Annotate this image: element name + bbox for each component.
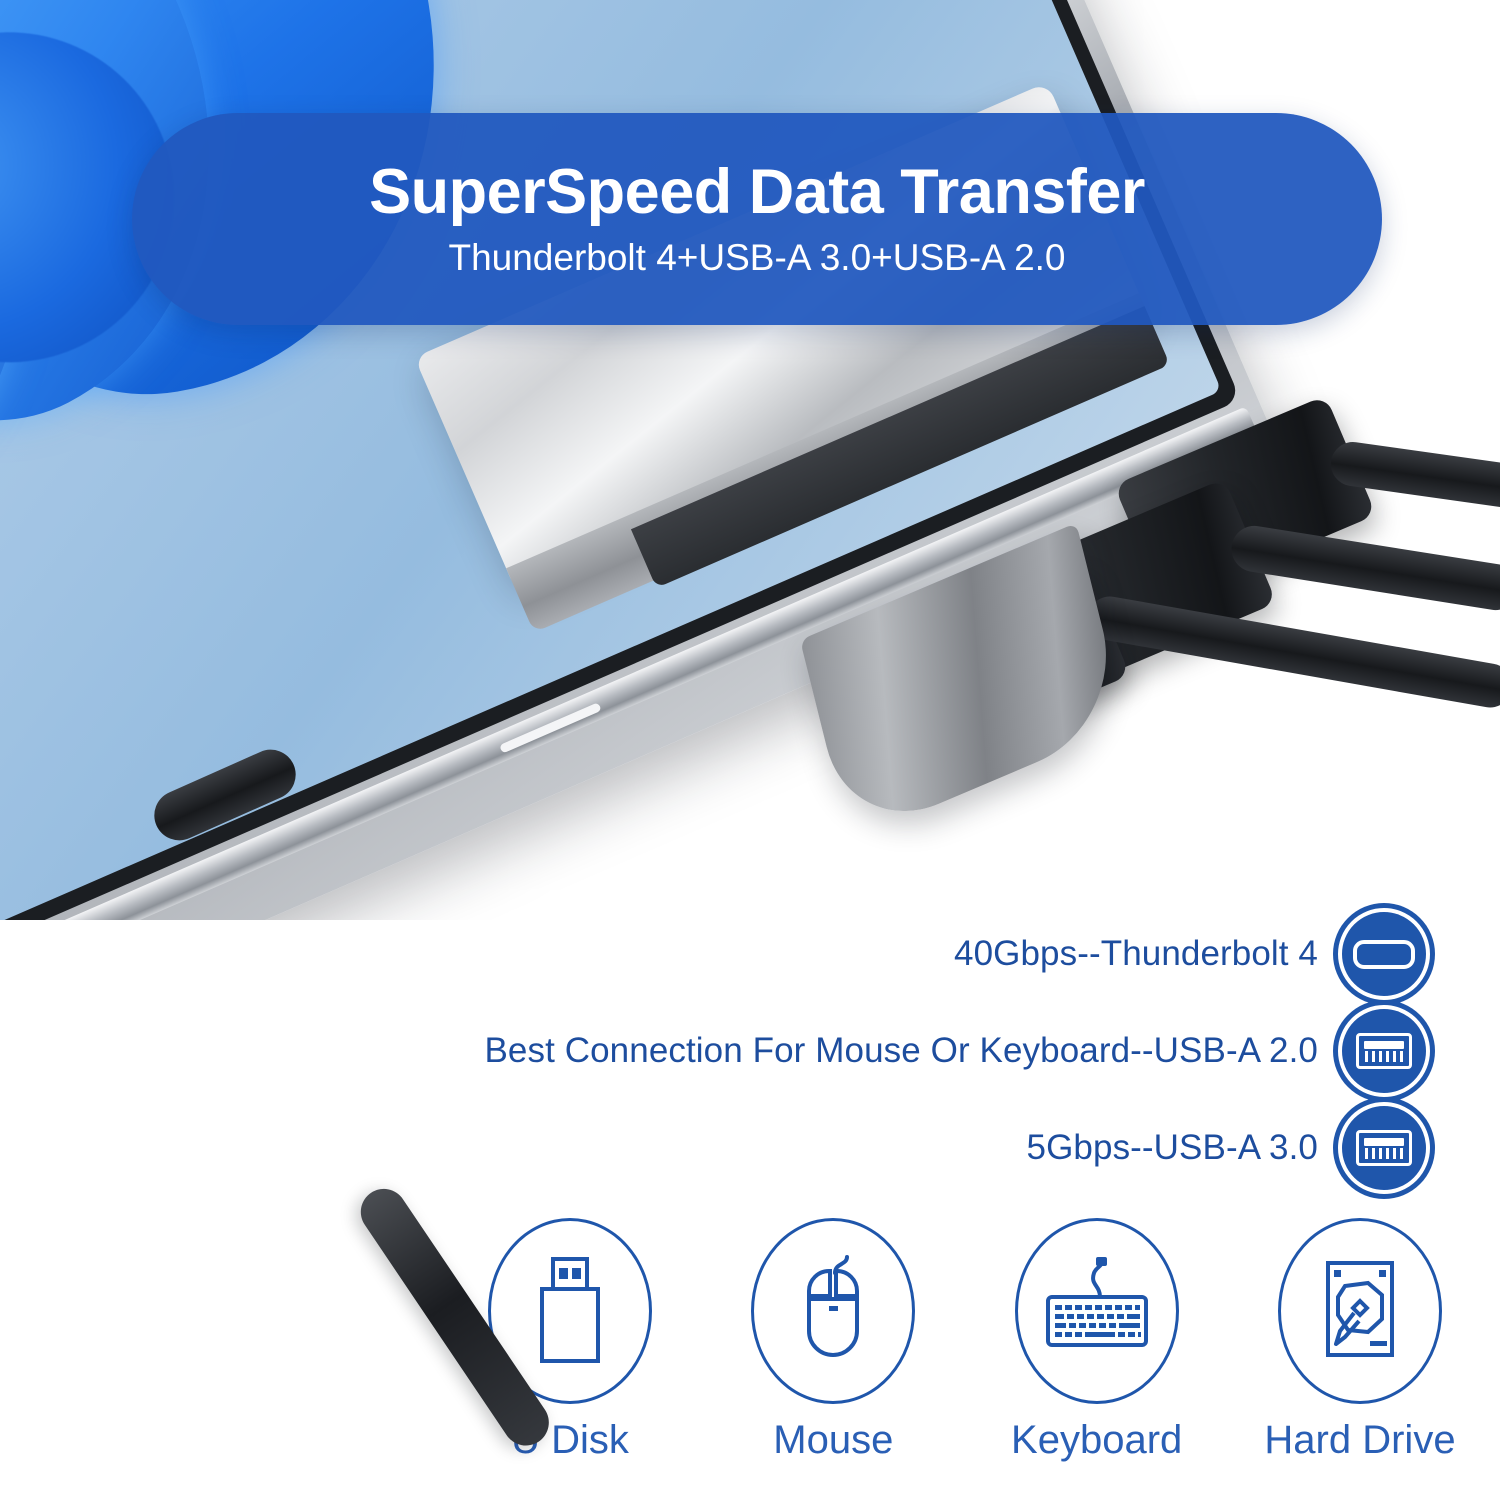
spec-label-usba20: Best Connection For Mouse Or Keyboard--U… <box>484 1031 1318 1071</box>
device-label-hard-drive: Hard Drive <box>1264 1418 1455 1463</box>
hard-drive-circle <box>1278 1218 1442 1404</box>
keyboard-icon <box>1038 1251 1156 1371</box>
device-label-keyboard: Keyboard <box>1011 1418 1182 1463</box>
usb-a-glyph <box>1356 1033 1412 1069</box>
mouse-circle <box>751 1218 915 1404</box>
spec-label-thunderbolt: 40Gbps--Thunderbolt 4 <box>954 934 1318 974</box>
computer-mouse-icon <box>783 1251 883 1371</box>
usb-c-port-icon <box>1338 908 1430 1000</box>
spec-row-usba30: 5Gbps--USB-A 3.0 <box>1027 1102 1430 1194</box>
device-label-mouse: Mouse <box>773 1418 893 1463</box>
device-hard-drive: Hard Drive <box>1260 1218 1460 1488</box>
device-keyboard: Keyboard <box>997 1218 1197 1488</box>
usb-flash-drive-icon <box>520 1251 620 1371</box>
usb-a-glyph <box>1356 1130 1412 1166</box>
spec-row-usba20: Best Connection For Mouse Or Keyboard--U… <box>484 1005 1430 1097</box>
spec-label-usba30: 5Gbps--USB-A 3.0 <box>1027 1128 1318 1168</box>
header-banner: SuperSpeed Data Transfer Thunderbolt 4+U… <box>132 113 1382 325</box>
hard-drive-icon <box>1310 1251 1410 1371</box>
keyboard-circle <box>1015 1218 1179 1404</box>
device-mouse: Mouse <box>733 1218 933 1488</box>
usb-a-port-icon-20 <box>1338 1005 1430 1097</box>
spec-row-thunderbolt: 40Gbps--Thunderbolt 4 <box>954 908 1430 1000</box>
usb-a-port-icon-30 <box>1338 1102 1430 1194</box>
product-marketing-image: SuperSpeed Data Transfer Thunderbolt 4+U… <box>0 0 1500 1500</box>
banner-subtitle: Thunderbolt 4+USB-A 3.0+USB-A 2.0 <box>448 237 1065 279</box>
banner-title: SuperSpeed Data Transfer <box>369 159 1145 225</box>
usb-c-glyph <box>1353 940 1415 969</box>
compatible-devices-row: U Disk Mouse <box>470 1218 1460 1488</box>
